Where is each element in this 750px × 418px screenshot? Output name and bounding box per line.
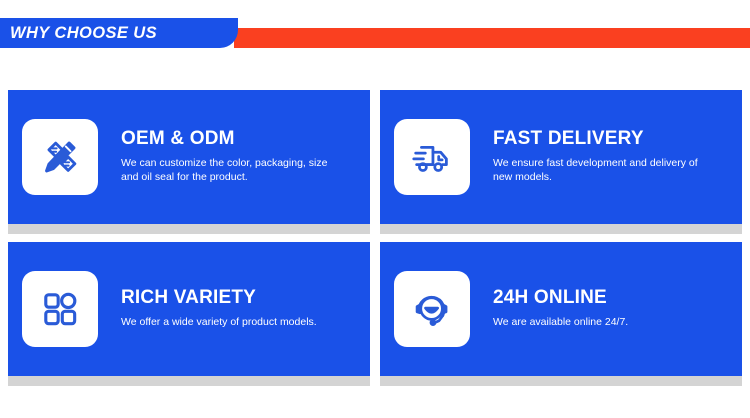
card-text-block: FAST DELIVERY We ensure fast development… <box>470 129 713 185</box>
icon-tile <box>394 271 470 347</box>
header-blue-banner: WHY CHOOSE US <box>0 18 238 48</box>
feature-card-fast-delivery[interactable]: FAST DELIVERY We ensure fast development… <box>380 90 742 234</box>
card-description: We offer a wide variety of product model… <box>121 315 317 329</box>
page-title: WHY CHOOSE US <box>0 24 157 43</box>
card-base-shadow <box>8 376 370 386</box>
card-description: We ensure fast development and delivery … <box>493 156 703 185</box>
card-body: FAST DELIVERY We ensure fast development… <box>380 90 742 224</box>
card-title: 24H ONLINE <box>493 288 628 309</box>
card-text-block: OEM & ODM We can customize the color, pa… <box>98 129 341 185</box>
feature-card-oem-odm[interactable]: OEM & ODM We can customize the color, pa… <box>8 90 370 234</box>
header-red-bar <box>234 28 750 48</box>
feature-card-24h-online[interactable]: 24H ONLINE We are available online 24/7. <box>380 242 742 386</box>
icon-tile <box>22 119 98 195</box>
card-base-shadow <box>380 224 742 234</box>
feature-card-grid: OEM & ODM We can customize the color, pa… <box>8 90 742 386</box>
icon-tile <box>394 119 470 195</box>
feature-card-rich-variety[interactable]: RICH VARIETY We offer a wide variety of … <box>8 242 370 386</box>
card-title: FAST DELIVERY <box>493 129 703 150</box>
card-description: We are available online 24/7. <box>493 315 628 329</box>
section-header: WHY CHOOSE US <box>0 18 750 48</box>
why-choose-us-page: WHY CHOOSE US <box>0 0 750 418</box>
card-base-shadow <box>8 224 370 234</box>
pencil-ruler-icon <box>37 134 83 180</box>
icon-tile <box>22 271 98 347</box>
card-text-block: 24H ONLINE We are available online 24/7. <box>470 288 638 329</box>
grid-shapes-icon <box>38 287 82 331</box>
headset-smile-icon <box>410 287 455 332</box>
delivery-truck-icon <box>409 134 455 180</box>
card-title: OEM & ODM <box>121 129 331 150</box>
card-description: We can customize the color, packaging, s… <box>121 156 331 185</box>
card-body: 24H ONLINE We are available online 24/7. <box>380 242 742 376</box>
card-body: OEM & ODM We can customize the color, pa… <box>8 90 370 224</box>
card-body: RICH VARIETY We offer a wide variety of … <box>8 242 370 376</box>
card-title: RICH VARIETY <box>121 288 317 309</box>
card-text-block: RICH VARIETY We offer a wide variety of … <box>98 288 327 329</box>
card-base-shadow <box>380 376 742 386</box>
